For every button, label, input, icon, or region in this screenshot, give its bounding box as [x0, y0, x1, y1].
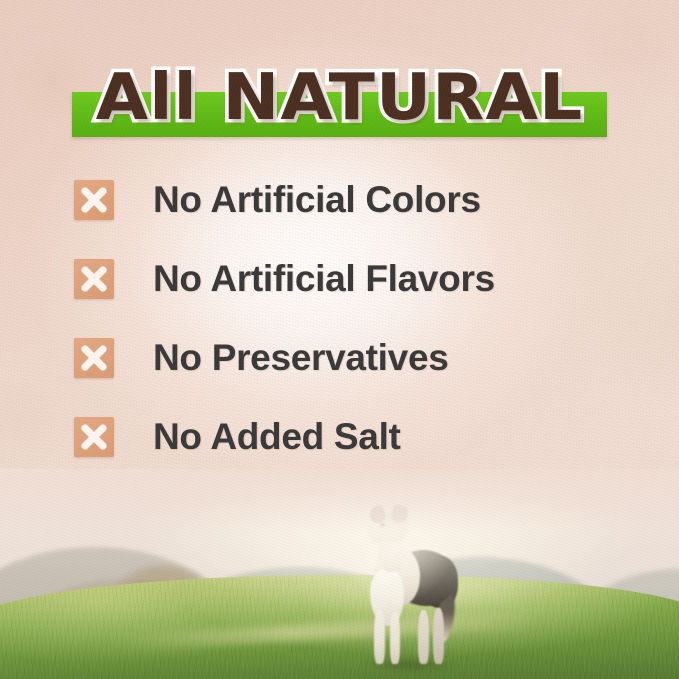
- dog-eye: [380, 523, 385, 527]
- dog-leg: [390, 612, 400, 664]
- x-mark-icon: [74, 259, 114, 299]
- x-mark-icon: [74, 417, 114, 457]
- dog-leg: [374, 610, 385, 664]
- headline-text: All NATURAL: [0, 52, 679, 144]
- dog-leg: [418, 610, 429, 664]
- landscape-photo: [0, 469, 679, 679]
- claim-row: No Artificial Flavors: [74, 259, 639, 299]
- claim-label: No Added Salt: [153, 417, 401, 457]
- claim-row: No Artificial Colors: [74, 180, 639, 220]
- dog-muzzle: [368, 524, 388, 542]
- headline-banner: All NATURAL: [0, 52, 679, 144]
- claim-label: No Preservatives: [153, 338, 449, 378]
- product-claims-poster: All NATURAL No Artificial Colors No Arti…: [0, 0, 679, 679]
- x-mark-icon: [74, 180, 114, 220]
- claim-label: No Artificial Flavors: [153, 259, 495, 299]
- dog-leg: [433, 608, 444, 664]
- x-mark-icon: [74, 338, 114, 378]
- claims-list: No Artificial Colors No Artificial Flavo…: [74, 180, 639, 496]
- claim-row: No Preservatives: [74, 338, 639, 378]
- claim-row: No Added Salt: [74, 417, 639, 457]
- border-collie-dog: [356, 506, 460, 671]
- claim-label: No Artificial Colors: [153, 180, 481, 220]
